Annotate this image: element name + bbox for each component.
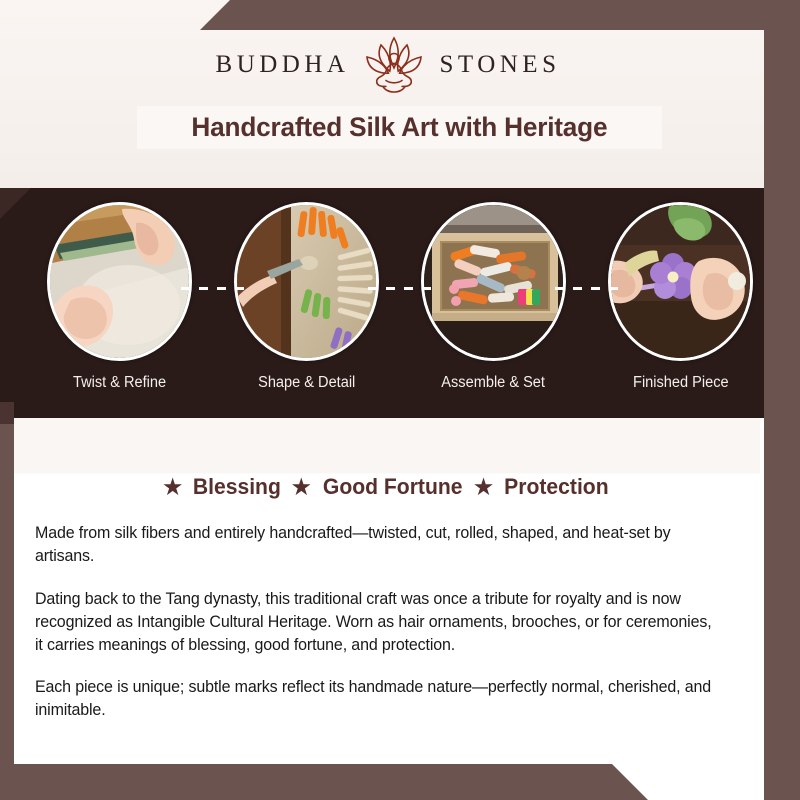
brand-name-left: BUDDHA	[216, 51, 350, 79]
frame-left-border	[0, 416, 14, 800]
step-image-shape-detail	[234, 202, 379, 361]
step-label: Shape & Detail	[258, 374, 355, 392]
process-step: Shape & Detail	[213, 202, 400, 392]
star-icon: ★	[292, 477, 311, 498]
star-icon: ★	[163, 477, 182, 498]
process-step: Finished Piece	[587, 202, 774, 392]
step-label: Twist & Refine	[73, 374, 166, 392]
dashed-connector-icon	[368, 287, 432, 290]
benefit-blessing: Blessing	[193, 474, 281, 500]
frame-left-accent	[0, 402, 14, 424]
brand-name-right: STONES	[439, 51, 560, 79]
description-section: ★ Blessing ★ Good Fortune ★ Protection M…	[14, 418, 760, 764]
lotus-meditation-icon	[357, 34, 431, 96]
page-title-band: Handcrafted Silk Art with Heritage	[137, 106, 662, 149]
dashed-connector-icon	[181, 287, 245, 290]
benefit-good-fortune: Good Fortune	[323, 474, 463, 500]
description-paragraph: Dating back to the Tang dynasty, this tr…	[35, 588, 722, 657]
benefits-row: ★ Blessing ★ Good Fortune ★ Protection	[14, 474, 760, 500]
brand-logo: BUDDHA S	[0, 34, 776, 96]
process-step: Assemble & Set	[400, 202, 587, 392]
description-paragraph: Each piece is unique; subtle marks refle…	[35, 676, 722, 722]
description-paragraph: Made from silk fibers and entirely handc…	[35, 522, 722, 568]
step-label: Assemble & Set	[442, 374, 546, 392]
step-label: Finished Piece	[633, 374, 729, 392]
step-image-assemble-set	[421, 202, 566, 361]
process-strip: Twist & Refine	[0, 188, 800, 418]
process-steps: Twist & Refine	[26, 202, 774, 402]
process-step: Twist & Refine	[26, 202, 213, 392]
dashed-connector-icon	[555, 287, 619, 290]
star-icon: ★	[474, 477, 493, 498]
step-image-twist-refine	[47, 202, 192, 361]
benefit-protection: Protection	[504, 474, 608, 500]
frame-right-border	[764, 0, 800, 800]
step-image-finished-piece	[608, 202, 753, 361]
frame-bottom-border	[0, 764, 800, 800]
description-paragraphs: Made from silk fibers and entirely handc…	[35, 522, 747, 722]
page-title: Handcrafted Silk Art with Heritage	[192, 112, 608, 143]
product-infographic: BUDDHA S	[0, 0, 800, 800]
